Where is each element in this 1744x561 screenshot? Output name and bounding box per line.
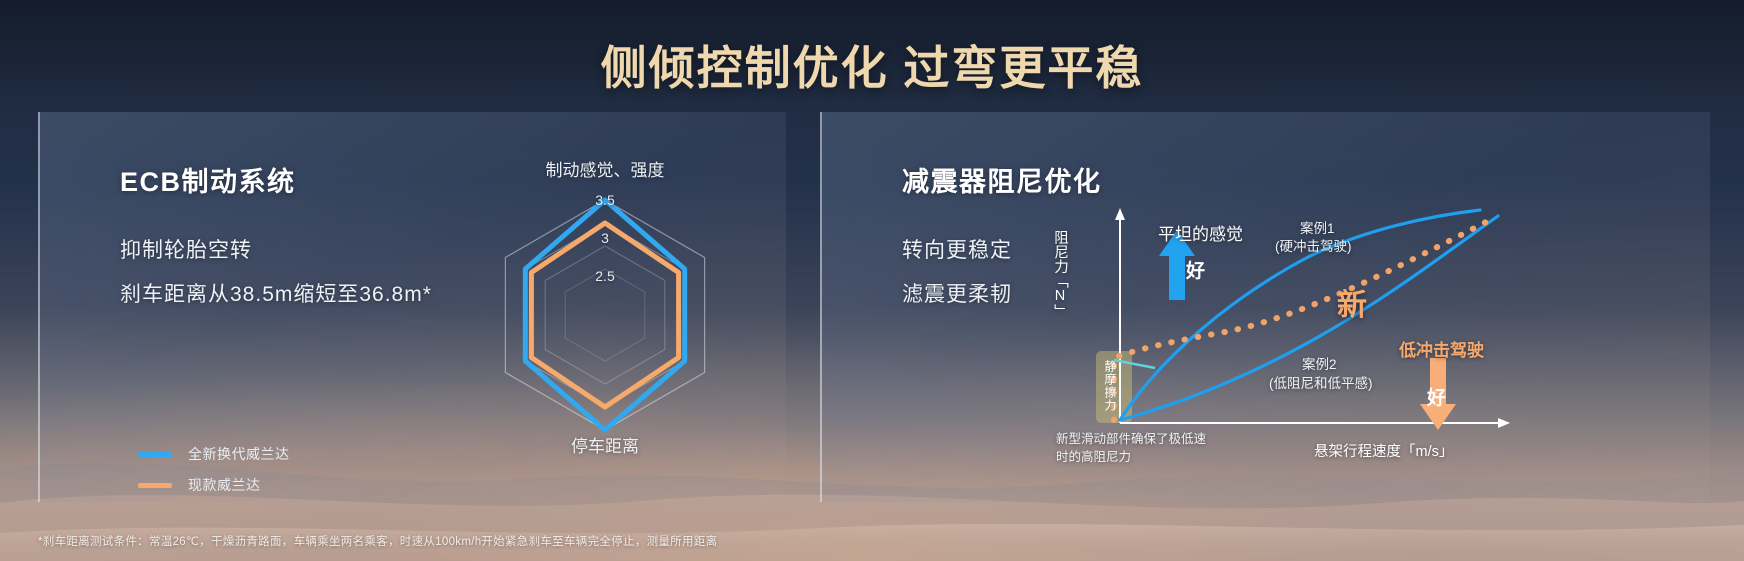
- radar-series-current: [531, 223, 678, 407]
- annotation-case2: 案例2: [1302, 356, 1337, 374]
- annotation-new: 新: [1337, 280, 1367, 324]
- right-panel-bullet-1: 滤震更柔韧: [902, 278, 1012, 308]
- annotation-good-down: 好: [1427, 383, 1446, 410]
- annotation-case2-sub: (低阻尼和低平感): [1269, 375, 1373, 393]
- right-panel-heading: 减震器阻尼优化: [902, 160, 1102, 199]
- annotation-flat-feeling: 平坦的感觉: [1158, 220, 1243, 245]
- legend-item-new: 全新换代威兰达: [138, 444, 290, 464]
- legend-swatch-blue: [138, 452, 172, 457]
- annotation-case1: 案例1: [1300, 220, 1335, 238]
- y-axis-arrowhead: [1115, 208, 1125, 220]
- damping-line-chart: 阻尼力「N」 悬架行程速度「m/s」 平坦的感觉 好 好 案例1 (硬冲击驾驶)…: [1010, 208, 1530, 458]
- annotation-good-up: 好: [1186, 256, 1205, 283]
- radar-tick-2-5: 2.5: [595, 268, 614, 284]
- legend-item-current: 现款威兰达: [138, 475, 290, 495]
- damping-chart-svg: [1010, 208, 1530, 458]
- left-panel-heading: ECB制动系统: [120, 160, 296, 199]
- radar-axis-label-top: 制动感觉、强度: [546, 156, 665, 181]
- radar-tick-3: 3: [601, 230, 609, 246]
- x-axis-arrowhead: [1498, 418, 1510, 428]
- legend-swatch-orange: [138, 483, 172, 488]
- radar-legend: 全新换代威兰达 现款威兰达: [138, 444, 290, 506]
- annotation-slide-note: 新型滑动部件确保了极低速 时的高阻尼力: [1056, 430, 1206, 466]
- y-axis-label: 阻尼力「N」: [1050, 230, 1071, 319]
- radar-tick-3-5: 3.5: [595, 192, 614, 208]
- x-axis-label: 悬架行程速度「m/s」: [1314, 440, 1453, 461]
- legend-label-current: 现款威兰达: [188, 475, 261, 495]
- page-title: 侧倾控制优化 过弯更平稳: [0, 32, 1744, 98]
- annotation-low-impact: 低冲击驾驶: [1399, 336, 1484, 361]
- right-panel-bullet-0: 转向更稳定: [902, 234, 1012, 264]
- radar-chart: 制动感觉、强度 停车距离 3.5 3 2.5: [455, 150, 755, 460]
- annotation-case1-sub: (硬冲击驾驶): [1275, 238, 1352, 256]
- footnote: *刹车距离测试条件：常温26℃，干燥沥青路面，车辆乘坐两名乘客，时速从100km…: [38, 533, 717, 549]
- annotation-static-friction: 静摩擦力: [1102, 360, 1119, 412]
- radar-grid-ring-2-5: [545, 246, 665, 384]
- left-panel-bullet-1: 刹车距离从38.5m缩短至36.8m*: [120, 278, 432, 308]
- radar-axis-label-bottom: 停车距离: [571, 432, 639, 457]
- legend-label-new: 全新换代威兰达: [188, 444, 290, 464]
- left-panel-bullet-0: 抑制轮胎空转: [120, 234, 252, 264]
